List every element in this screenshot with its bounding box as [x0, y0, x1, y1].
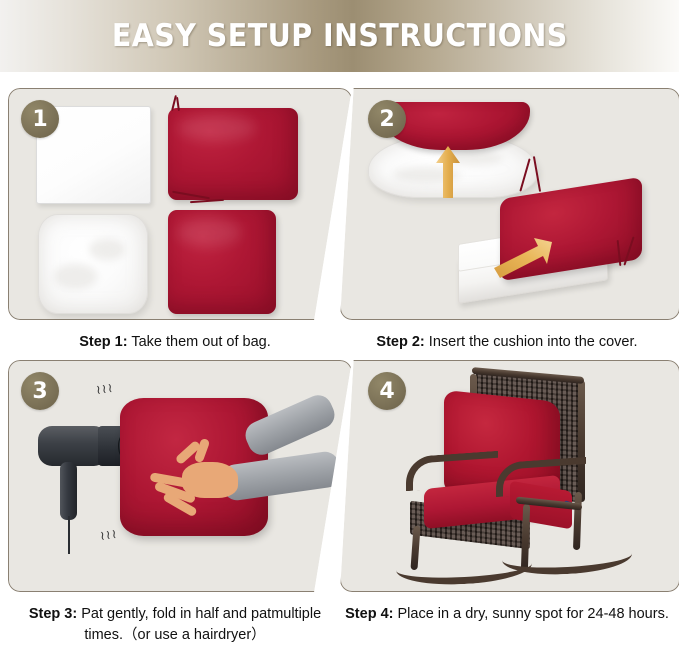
heat-waves-icon: ≀≀≀	[99, 527, 119, 544]
red-pillow-cover-image	[168, 210, 276, 314]
step-2-caption-lead: Step 2:	[376, 334, 424, 350]
header-banner: EASY SETUP INSTRUCTIONS	[0, 0, 679, 72]
step-3-caption: Step 3: Pat gently, fold in half and pat…	[8, 604, 342, 646]
heat-waves-icon: ≀≀≀	[95, 381, 115, 398]
step-4-caption-text: Place in a dry, sunny spot for 24-48 hou…	[393, 606, 668, 622]
step-3-number-badge: 3	[21, 372, 59, 410]
step-3-caption-lead: Step 3:	[29, 606, 77, 622]
step-1-number-badge: 1	[21, 100, 59, 138]
step-2-caption: Step 2: Insert the cushion into the cove…	[340, 332, 674, 353]
step-3-illustration: ≀≀≀ ≀≀≀	[8, 360, 352, 592]
step-1-caption-lead: Step 1:	[79, 334, 127, 350]
white-pillow-insert-image	[38, 214, 148, 314]
step-2-caption-text: Insert the cushion into the cover.	[425, 334, 638, 350]
step-3-panel: ≀≀≀ ≀≀≀	[8, 360, 352, 592]
step-4-number-badge: 4	[368, 372, 406, 410]
step-3-block: ≀≀≀ ≀≀≀	[8, 360, 342, 646]
step-4-block: Step 4: Place in a dry, sunny spot for 2…	[340, 360, 674, 625]
wicker-rocking-chair-image	[392, 372, 642, 584]
diagonal-arrow-icon	[490, 238, 552, 278]
step-1-caption: Step 1: Take them out of bag.	[8, 332, 342, 353]
step-2-number-badge: 2	[368, 100, 406, 138]
patting-hand-icon	[144, 448, 240, 518]
red-seat-cover-image	[168, 108, 298, 200]
step-4-caption-lead: Step 4:	[345, 606, 393, 622]
step-2-block: Step 2: Insert the cushion into the cove…	[340, 88, 674, 353]
step-1-panel	[8, 88, 352, 320]
step-3-caption-text: Pat gently, fold in half and patmultiple…	[77, 606, 321, 643]
step-1-block: Step 1: Take them out of bag. 1	[8, 88, 342, 353]
page-title: EASY SETUP INSTRUCTIONS	[112, 18, 568, 54]
steps-grid: Step 1: Take them out of bag. 1	[0, 72, 679, 652]
instruction-sheet: EASY SETUP INSTRUCTIONS	[0, 0, 679, 652]
step-1-illustration	[8, 88, 352, 320]
up-arrow-icon	[436, 146, 460, 198]
step-1-caption-text: Take them out of bag.	[128, 334, 271, 350]
step-4-caption: Step 4: Place in a dry, sunny spot for 2…	[340, 604, 674, 625]
